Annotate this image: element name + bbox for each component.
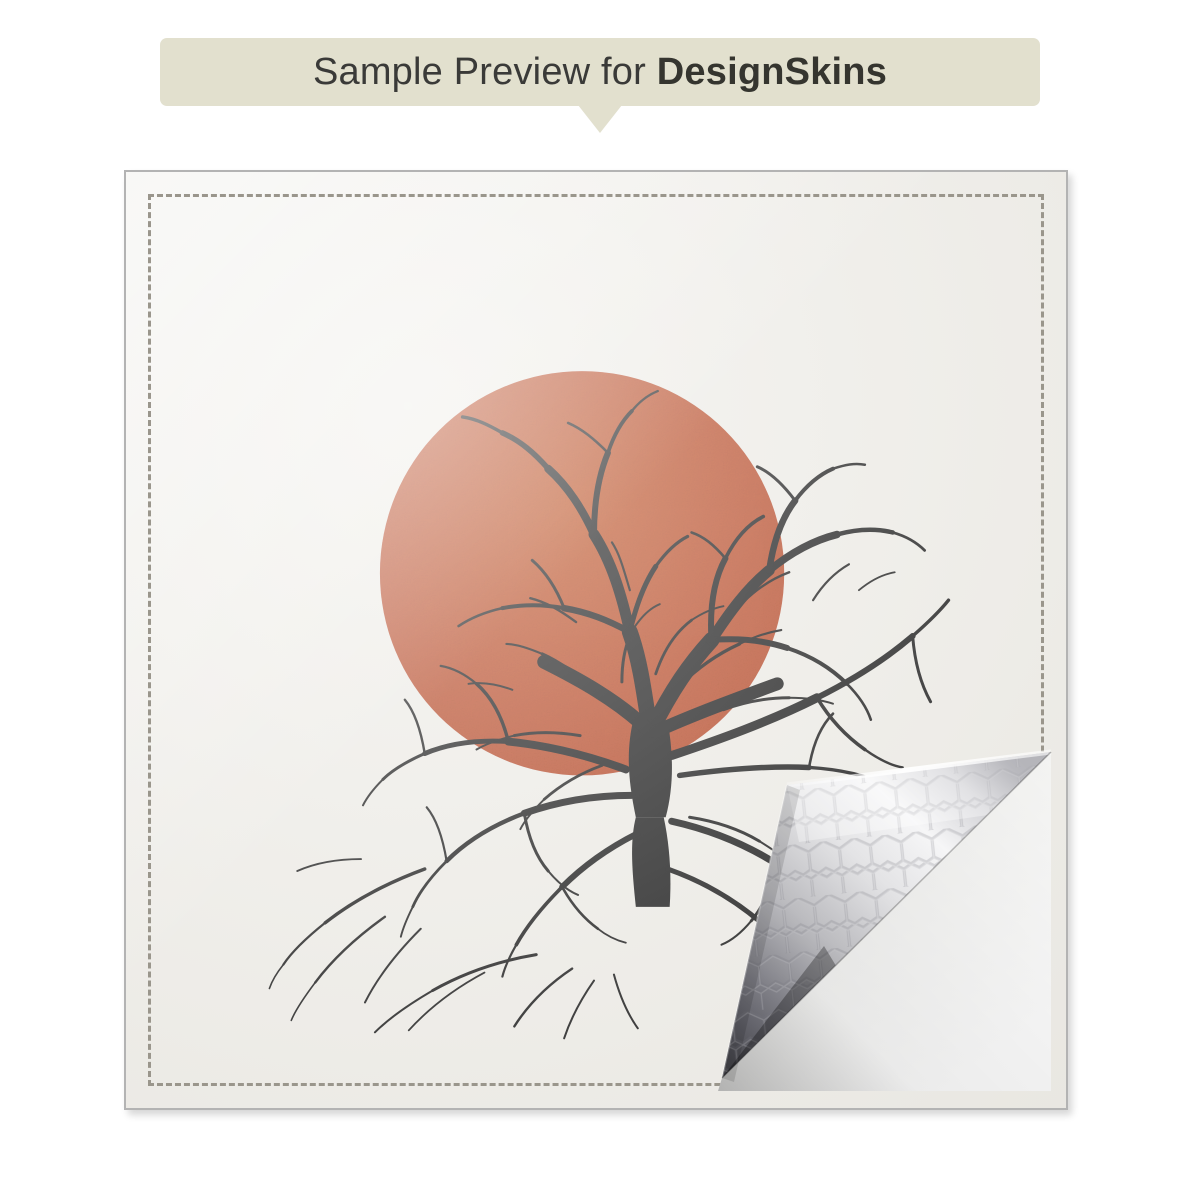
banner-brand-name: DesignSkins — [657, 51, 887, 93]
banner-body: Sample Preview for DesignSkins — [160, 38, 1040, 106]
preview-page: Sample Preview for DesignSkins — [0, 0, 1200, 1200]
banner-label-prefix: Sample Preview for — [313, 51, 657, 93]
banner-label: Sample Preview for DesignSkins — [313, 53, 887, 91]
preview-banner: Sample Preview for DesignSkins — [160, 38, 1040, 138]
artwork-svg — [126, 172, 1066, 1108]
sticker-card — [124, 170, 1068, 1110]
banner-tail-pointer — [578, 105, 622, 133]
artwork-canvas — [126, 172, 1066, 1108]
